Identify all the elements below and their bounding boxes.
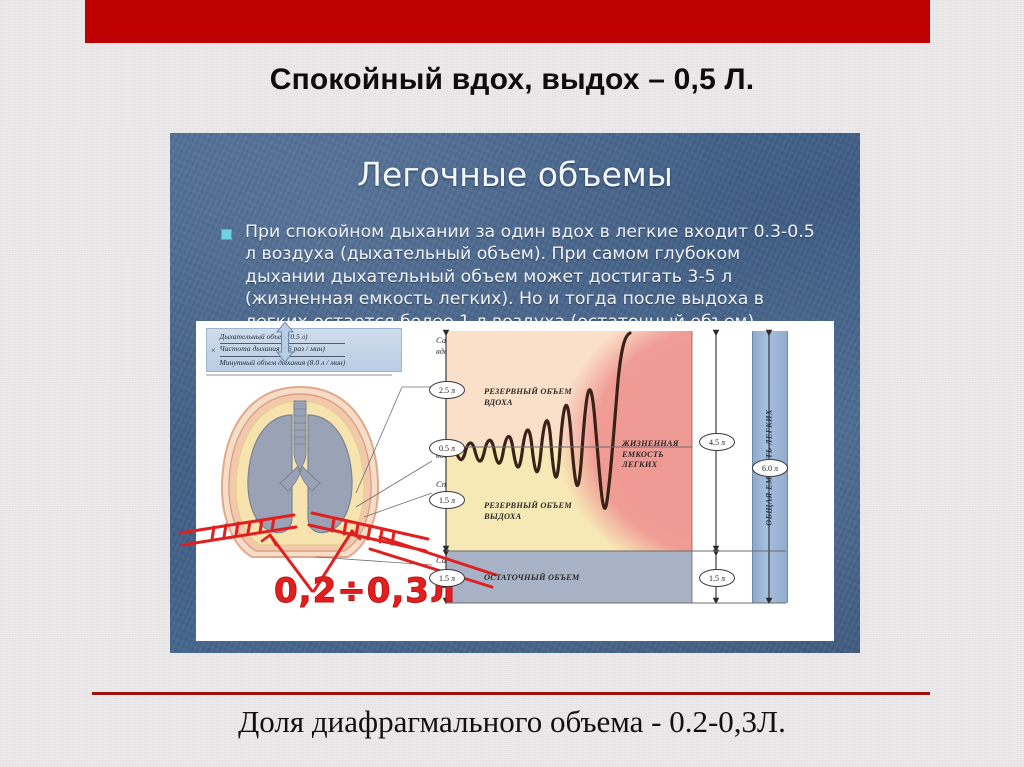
bubble-residual-volume: 1.5 л <box>429 569 465 587</box>
image-heading: Легочные объемы <box>170 155 860 194</box>
band-label-residual-volume: ОСТАТОЧНЫЙ ОБЪЕМ <box>484 573 580 584</box>
bullet-paragraph: При спокойном дыхании за один вдох в лег… <box>222 221 822 333</box>
top-red-banner <box>85 0 930 43</box>
bubble-residual-volume-right: 1.5 л <box>699 569 735 587</box>
bubble-expiratory-reserve: 1.5 л <box>429 491 465 509</box>
band-label-inspiratory-reserve: РЕЗЕРВНЫЙ ОБЪЕМ ВДОХА <box>484 387 572 408</box>
band-label-vital-capacity: ЖИЗНЕННАЯ ЕМКОСТЬ ЛЕГКИХ <box>622 439 679 471</box>
bottom-caption: Доля диафрагмального объема - 0.2-0,3Л. <box>0 704 1024 740</box>
slide-title: Спокойный вдох, выдох – 0,5 Л. <box>0 63 1024 97</box>
bottom-divider <box>92 692 930 695</box>
slide-image: Легочные объемы При спокойном дыхании за… <box>170 133 860 653</box>
bubble-vital-capacity: 4.5 л <box>699 433 735 451</box>
band-label-expiratory-reserve: РЕЗЕРВНЫЙ ОБЪЕМ ВЫДОХА <box>484 501 572 522</box>
bubble-tidal-volume: 0.5 л <box>429 439 465 457</box>
bubble-inspiratory-reserve: 2.5 л <box>429 381 465 399</box>
lung-volumes-chart: × Дыхательный объем (0.5 л) Частота дыха… <box>196 321 834 641</box>
bullet-square-icon <box>222 230 231 239</box>
bullet-text: При спокойном дыхании за один вдох в лег… <box>245 221 822 333</box>
bubble-total-capacity: 6.0 л <box>752 459 788 477</box>
